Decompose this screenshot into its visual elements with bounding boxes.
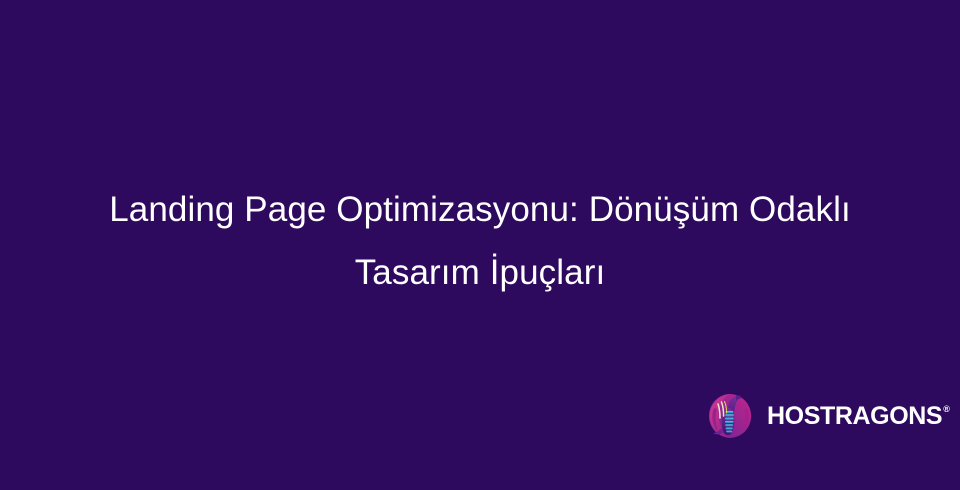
- dragon-icon: [706, 392, 754, 440]
- brand-wordmark: HOSTRAGONS ®: [767, 404, 950, 429]
- title-block: Landing Page Optimizasyonu: Dönüşüm Odak…: [50, 178, 910, 304]
- banner-canvas: Landing Page Optimizasyonu: Dönüşüm Odak…: [0, 0, 960, 490]
- brand-wordmark-text: HOSTRAGONS: [767, 404, 942, 429]
- page-title: Landing Page Optimizasyonu: Dönüşüm Odak…: [50, 178, 910, 304]
- registered-trademark-icon: ®: [943, 405, 950, 414]
- brand-logo-lockup: HOSTRAGONS ®: [706, 391, 950, 441]
